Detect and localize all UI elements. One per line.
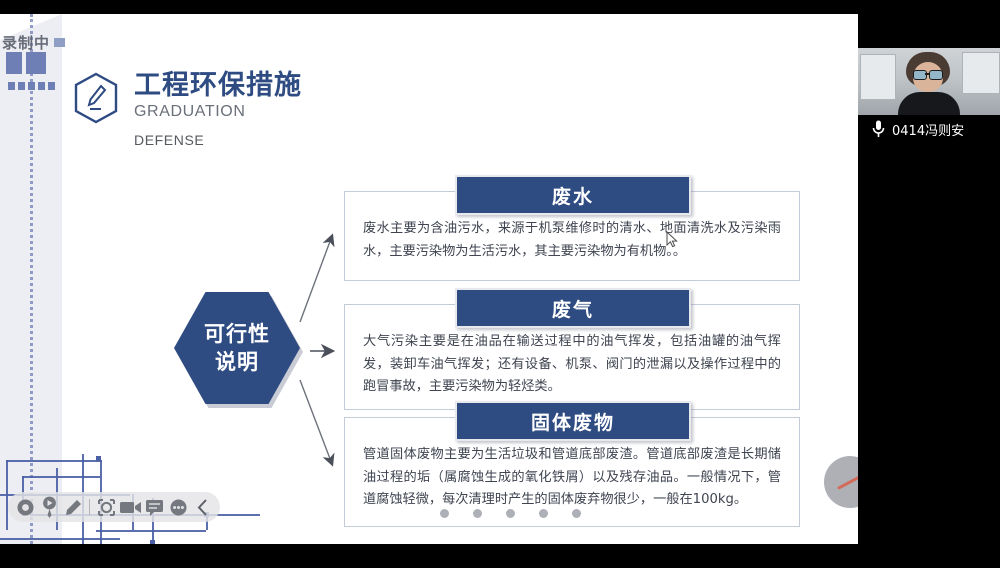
feasibility-hexagon: 可行性 说明: [174, 292, 306, 410]
webcam-label: 0414冯则安: [858, 114, 1000, 144]
hexagon-line-2: 说明: [215, 348, 259, 376]
subtitle-line-1: GRADUATION: [134, 104, 302, 120]
pagination-dot[interactable]: [506, 509, 515, 518]
presentation-toolbar[interactable]: [8, 492, 220, 522]
subtitle-line-2: DEFENSE: [134, 133, 302, 147]
card-header: 废气: [455, 288, 691, 328]
pencil-hexagon-icon: [72, 72, 120, 124]
back-chevron-icon[interactable]: [192, 494, 214, 520]
mouse-pointer-icon: [666, 231, 678, 248]
pointer-icon[interactable]: [14, 494, 36, 520]
spotlight-icon[interactable]: [95, 494, 117, 520]
webcam-video: [858, 48, 1000, 115]
card-title: 废气: [552, 295, 594, 322]
pagination-dot[interactable]: [539, 509, 548, 518]
slide-pagination[interactable]: [440, 509, 581, 518]
comment-icon[interactable]: [144, 494, 166, 520]
hexagon-line-1: 可行性: [204, 320, 270, 348]
decorative-left-pattern: [0, 14, 62, 544]
recording-stop-icon: [54, 38, 65, 47]
more-icon[interactable]: [168, 494, 190, 520]
recording-label: 录制中: [2, 32, 50, 53]
participant-name: 0414冯则安: [892, 120, 964, 139]
microphone-icon: [872, 120, 885, 138]
floating-round-button[interactable]: [824, 456, 858, 508]
screen-share-window: 工程环保措施 GRADUATION DEFENSE 可行性 说明: [0, 0, 1000, 568]
slide-header: 工程环保措施 GRADUATION DEFENSE: [72, 72, 302, 147]
card-header: 废水: [455, 175, 691, 215]
video-icon[interactable]: [119, 494, 141, 520]
recording-indicator: 录制中: [2, 32, 65, 53]
pagination-dot[interactable]: [440, 509, 449, 518]
page-title: 工程环保措施: [134, 72, 302, 99]
card-title: 固体废物: [531, 408, 615, 435]
laser-pen-icon[interactable]: [38, 494, 60, 520]
pagination-dot[interactable]: [572, 509, 581, 518]
presentation-slide: 工程环保措施 GRADUATION DEFENSE 可行性 说明: [0, 14, 858, 544]
card-title: 废水: [552, 182, 594, 209]
pagination-dot[interactable]: [473, 509, 482, 518]
pencil-icon[interactable]: [62, 494, 84, 520]
card-header: 固体废物: [455, 401, 691, 441]
webcam-panel[interactable]: 0414冯则安: [858, 6, 1000, 152]
